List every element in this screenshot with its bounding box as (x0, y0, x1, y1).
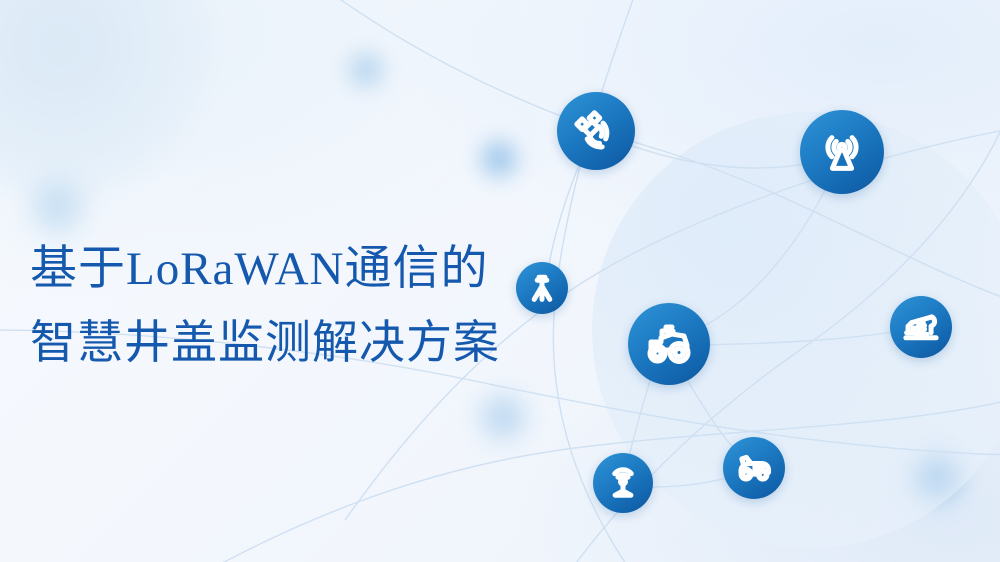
radio-tower-icon (818, 128, 866, 176)
presentation-slide: 基于LoRaWAN通信的 智慧井盖监测解决方案 (0, 0, 1000, 562)
title-line-2: 智慧井盖监测解决方案 (30, 306, 590, 380)
title-line-1: 基于LoRaWAN通信的 (30, 232, 590, 306)
node-radio-tower[interactable] (800, 110, 884, 194)
wireless-beacon-icon (605, 465, 641, 501)
node-satellite[interactable] (557, 92, 635, 170)
background-dot-top-center (338, 42, 394, 98)
node-wireless-beacon[interactable] (593, 453, 653, 513)
robot-mower-icon (735, 449, 773, 487)
satellite-icon (574, 109, 618, 153)
node-robot-mower[interactable] (723, 437, 785, 499)
background-dot-upper-mid (470, 130, 528, 188)
background-blob-top-left (0, 0, 215, 200)
node-oil-pumpjack[interactable] (890, 296, 952, 358)
slide-title: 基于LoRaWAN通信的 智慧井盖监测解决方案 (30, 232, 590, 380)
node-tractor[interactable] (628, 303, 710, 385)
background-dot-lower-mid (468, 382, 538, 452)
background-dot-bottom-right (900, 440, 972, 512)
oil-pumpjack-icon (903, 309, 939, 345)
tractor-icon (644, 319, 694, 369)
